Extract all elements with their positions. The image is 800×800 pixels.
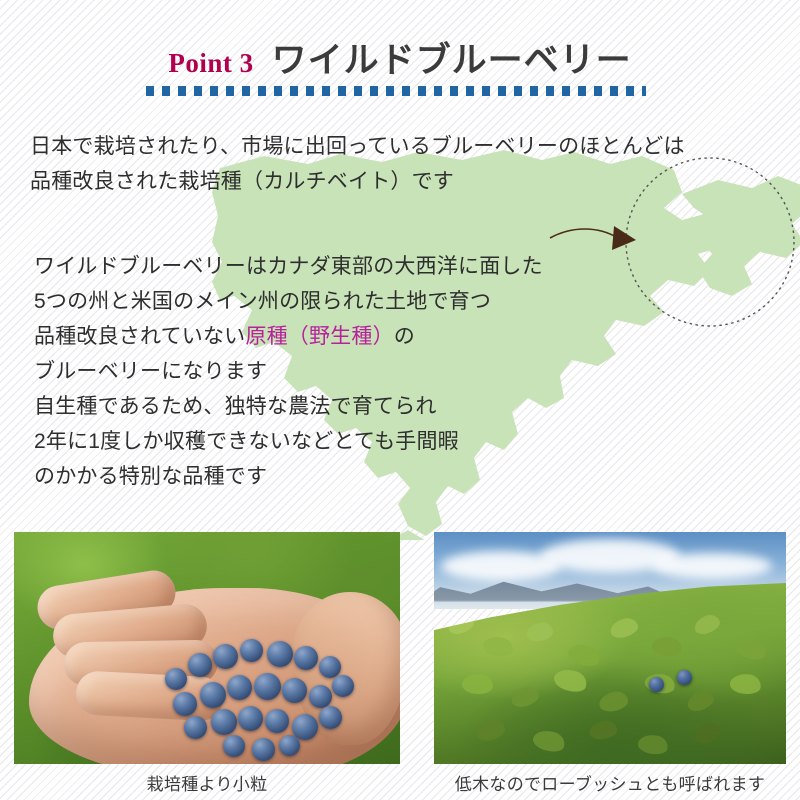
blueberry-field xyxy=(434,583,786,764)
wild-species-highlight: 原種（野生種） xyxy=(245,325,393,348)
wild-blueberry xyxy=(677,670,692,685)
paragraph-1: 日本で栽培されたり、市場に出回っているブルーベリーのほとんどは 品種改良された栽… xyxy=(30,129,685,199)
paragraph-2-line-5: 自生種であるため、独特な農法で育てられ xyxy=(30,389,543,424)
paragraph-2-line-3-post: の xyxy=(394,325,415,348)
point-badge: Point 3 xyxy=(168,48,253,79)
paragraph-1-line-2: 品種改良された栽培種（カルチベイト）です xyxy=(30,164,685,199)
infographic-page: Point 3 ワイルドブルーベリー 日本で栽培されたり、市場に出回っているブル… xyxy=(0,0,800,800)
paragraph-2-line-4: ブルーベリーになります xyxy=(30,354,543,389)
dotted-divider xyxy=(146,86,646,96)
paragraph-2-line-1: ワイルドブルーベリーはカナダ東部の大西洋に面した xyxy=(30,249,543,284)
paragraph-2-line-3-pre: 品種改良されていない xyxy=(34,325,245,348)
caption-left: 栽培種より小粒 xyxy=(14,770,400,795)
caption-right: 低木なのでローブッシュとも呼ばれます xyxy=(434,770,786,795)
photo-row xyxy=(0,532,800,764)
wild-blueberry xyxy=(649,677,664,692)
arrow-head xyxy=(612,226,636,250)
photo-lowbush-blueberry-field xyxy=(434,532,786,764)
paragraph-1-line-1: 日本で栽培されたり、市場に出回っているブルーベリーのほとんどは xyxy=(30,129,685,164)
page-title: ワイルドブルーベリー xyxy=(272,32,632,83)
paragraph-2-line-3: 品種改良されていない原種（野生種）の xyxy=(30,319,543,354)
paragraph-2-line-2: 5つの州と米国のメイン州の限られた土地で育つ xyxy=(30,284,543,319)
pointer-arrow xyxy=(540,210,670,280)
paragraph-2-line-7: のかかる特別な品種です xyxy=(30,459,543,494)
blueberry-pile xyxy=(161,634,369,755)
photo-cultivated-blueberries-in-hand xyxy=(14,532,400,764)
paragraph-2-line-6: 2年に1度しか収穫できないなどとても手間暇 xyxy=(30,424,543,459)
arrow-curve xyxy=(550,229,618,238)
paragraph-2: ワイルドブルーベリーはカナダ東部の大西洋に面した 5つの州と米国のメイン州の限ら… xyxy=(30,249,543,494)
header: Point 3 ワイルドブルーベリー xyxy=(0,32,800,92)
